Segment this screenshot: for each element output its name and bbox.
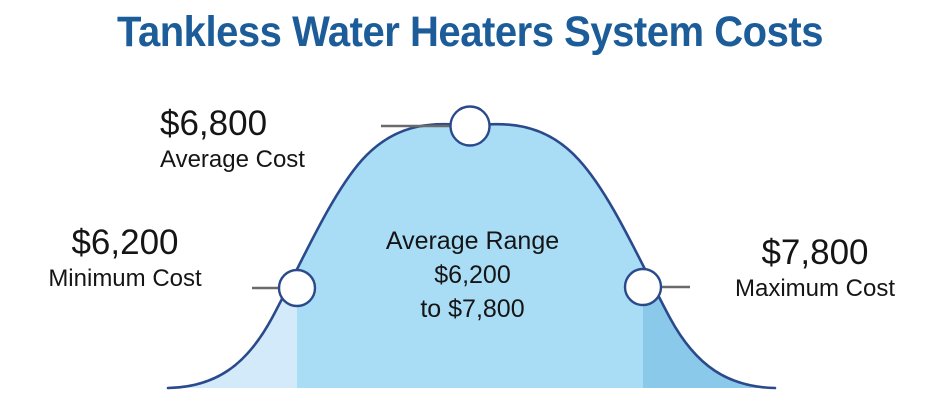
- average-cost-value: $6,800: [160, 103, 305, 145]
- average-range-annotation: Average Range $6,200 to $7,800: [355, 224, 590, 326]
- minimum-cost-marker[interactable]: [279, 270, 315, 306]
- average-cost-caption: Average Cost: [160, 145, 305, 175]
- average-cost-callout: $6,800 Average Cost: [160, 103, 305, 175]
- average-cost-marker[interactable]: [451, 107, 490, 146]
- maximum-cost-callout: $7,800 Maximum Cost: [700, 232, 930, 304]
- average-range-line-2: $6,200: [355, 258, 590, 292]
- bell-curve-chart: [0, 0, 940, 401]
- minimum-cost-value: $6,200: [10, 222, 240, 264]
- minimum-cost-callout: $6,200 Minimum Cost: [10, 222, 240, 294]
- maximum-cost-caption: Maximum Cost: [700, 274, 930, 304]
- average-range-line-1: Average Range: [355, 224, 590, 258]
- maximum-cost-marker[interactable]: [625, 269, 661, 305]
- minimum-cost-caption: Minimum Cost: [10, 264, 240, 294]
- infographic-root: Tankless Water Heaters System Costs: [0, 0, 940, 401]
- average-range-line-3: to $7,800: [355, 292, 590, 326]
- maximum-cost-value: $7,800: [700, 232, 930, 274]
